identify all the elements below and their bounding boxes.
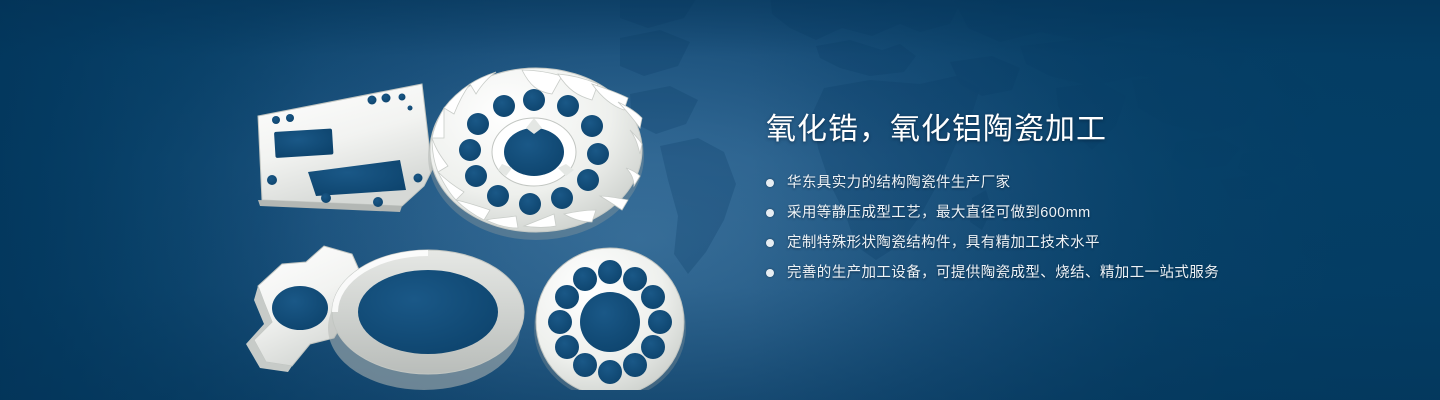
list-item: 采用等静压成型工艺，最大直径可做到600mm xyxy=(766,202,1386,224)
list-item: 华东具实力的结构陶瓷件生产厂家 xyxy=(766,172,1386,194)
feature-list: 华东具实力的结构陶瓷件生产厂家 采用等静压成型工艺，最大直径可做到600mm 定… xyxy=(766,172,1386,284)
ceramic-impeller-part xyxy=(428,68,644,240)
banner-copy: 氧化锆，氧化铝陶瓷加工 华东具实力的结构陶瓷件生产厂家 采用等静压成型工艺，最大… xyxy=(766,110,1386,292)
list-item: 定制特殊形状陶瓷结构件，具有精加工技术水平 xyxy=(766,232,1386,254)
ceramic-ring-part xyxy=(328,250,524,390)
ceramic-perforated-disc-part xyxy=(534,248,686,390)
bullet-dot-icon xyxy=(766,209,774,217)
ceramic-products-image xyxy=(170,20,730,390)
hero-banner: 氧化锆，氧化铝陶瓷加工 华东具实力的结构陶瓷件生产厂家 采用等静压成型工艺，最大… xyxy=(0,0,1440,400)
bullet-dot-icon xyxy=(766,239,774,247)
page-title: 氧化锆，氧化铝陶瓷加工 xyxy=(766,110,1386,150)
list-item: 完善的生产加工设备，可提供陶瓷成型、烧结、精加工一站式服务 xyxy=(766,262,1386,284)
feature-text: 定制特殊形状陶瓷结构件，具有精加工技术水平 xyxy=(787,232,1100,254)
feature-text: 采用等静压成型工艺，最大直径可做到600mm xyxy=(787,202,1091,224)
feature-text: 完善的生产加工设备，可提供陶瓷成型、烧结、精加工一站式服务 xyxy=(787,262,1219,284)
bullet-dot-icon xyxy=(766,179,774,187)
bullet-dot-icon xyxy=(766,269,774,277)
ceramic-plate-part xyxy=(258,84,432,212)
feature-text: 华东具实力的结构陶瓷件生产厂家 xyxy=(787,172,1011,194)
